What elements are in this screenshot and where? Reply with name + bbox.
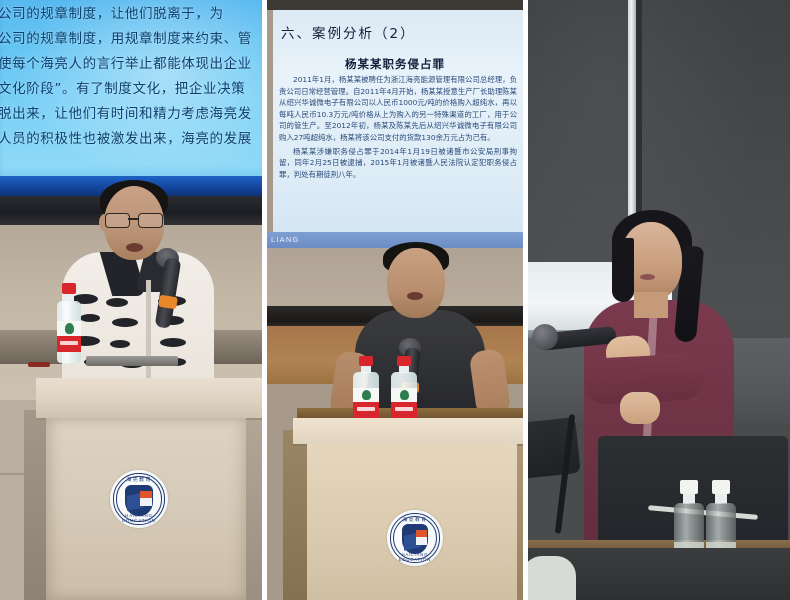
emblem-top-text: 海亮教育 bbox=[387, 516, 443, 523]
podium-side-right bbox=[244, 410, 262, 600]
slide-heading: 六、案例分析（2） bbox=[281, 22, 416, 42]
speaker-mouth bbox=[640, 274, 655, 280]
microphone-head-icon bbox=[532, 324, 558, 350]
panel-left-photo: 公司的规章制度，让他们脱离于，为 公司的规章制度，用规章制度来约束、管 使每个海… bbox=[0, 0, 262, 600]
glasses-bridge bbox=[128, 218, 139, 220]
podium-side-left bbox=[24, 410, 48, 600]
pen-on-desk bbox=[28, 362, 50, 367]
bottle-label-red bbox=[391, 402, 417, 418]
bottle-cap bbox=[62, 283, 76, 294]
projection-screen-left: 公司的规章制度，让他们脱离于，为 公司的规章制度，用规章制度来约束、管 使每个海… bbox=[0, 0, 262, 192]
emblem-top-text: 海亮教育 bbox=[110, 476, 168, 483]
laptop-on-desk bbox=[86, 356, 178, 366]
speaker-head bbox=[387, 248, 445, 318]
emblem-bottom-text: HAILIANG EDUCATION bbox=[110, 513, 168, 523]
slide-body-text: 2011年1月，杨某某被聘任为浙江海亮能源管理有限公司总经理，负责公司日常经营管… bbox=[279, 74, 517, 180]
shirt-placket bbox=[146, 280, 151, 384]
podium-top bbox=[36, 378, 262, 420]
photo-collage: 公司的规章制度，让他们脱离于，为 公司的规章制度，用规章制度来约束、管 使每个海… bbox=[0, 0, 790, 600]
bottle-label-red bbox=[353, 402, 379, 418]
slide-line: 文化阶段”。有了制度文化，把企业决策 bbox=[0, 77, 262, 102]
speaker-mouth bbox=[126, 243, 143, 252]
water-bottle bbox=[57, 283, 81, 363]
speaker-hand-lower bbox=[620, 392, 660, 424]
podium-side-left bbox=[283, 430, 309, 600]
glasses-icon bbox=[104, 213, 164, 227]
microphone-band bbox=[158, 295, 178, 310]
slide-paragraph: 2011年1月，杨某某被聘任为浙江海亮能源管理有限公司总经理，负责公司日常经营管… bbox=[279, 74, 517, 144]
panel-right-photo bbox=[528, 0, 790, 600]
bottle-label-logo bbox=[362, 390, 371, 400]
shirt-pattern bbox=[62, 288, 214, 384]
slide-text-block-left: 公司的规章制度，让他们脱离于，为 公司的规章制度，用规章制度来约束、管 使每个海… bbox=[0, 2, 262, 152]
glasses-lens-right bbox=[138, 213, 163, 228]
speaker-neck bbox=[634, 292, 668, 318]
slide-line: 脱出来，让他们有时间和精力考虑海亮发 bbox=[0, 102, 262, 127]
slide-paragraph: 杨某某涉嫌职务侵占罪于2014年1月19日被诸暨市公安局刑事拘留，同年2月25日… bbox=[279, 146, 517, 181]
speaker-hair-side bbox=[612, 238, 634, 302]
bottle-label-logo bbox=[65, 323, 74, 334]
emblem-flag-red bbox=[416, 530, 427, 537]
slide-line: 使每个海亮人的言行举止都能体现出企业 bbox=[0, 52, 262, 77]
emblem-flag-white bbox=[140, 498, 152, 506]
hailiang-education-emblem: 海亮教育 HAILIANG EDUCATION bbox=[110, 470, 168, 528]
podium-top bbox=[293, 418, 523, 446]
slide-subheading: 杨某某职务侵占罪 bbox=[267, 56, 523, 72]
bottle-cap bbox=[712, 480, 730, 494]
speaker-mouth bbox=[407, 292, 423, 300]
bottle-label-red bbox=[57, 336, 81, 352]
monitor-foreground bbox=[528, 556, 576, 600]
bottle-label-logo bbox=[400, 390, 409, 400]
slide-line: 公司的规章制度，让他们脱离于，为 bbox=[0, 2, 262, 27]
panel-middle-photo: 六、案例分析（2） 杨某某职务侵占罪 2011年1月，杨某某被聘任为浙江海亮能源… bbox=[267, 0, 523, 600]
slide-line: 公司的规章制度，用规章制度来约束、管 bbox=[0, 27, 262, 52]
bottle-cap bbox=[680, 480, 698, 494]
bottle-cap bbox=[359, 356, 373, 366]
hailiang-education-emblem: 海亮教育 HAILIANG EDUCATION bbox=[387, 510, 443, 566]
slide-watermark-text: LIANG bbox=[271, 235, 300, 244]
emblem-flag-red bbox=[140, 491, 152, 499]
emblem-bottom-text: HAILIANG EDUCATION bbox=[387, 552, 443, 562]
bottle-cap bbox=[397, 356, 411, 366]
slide-line: 人员的积极性也被激发出来，海亮的发展 bbox=[0, 127, 262, 152]
glasses-lens-left bbox=[105, 213, 130, 228]
ceiling-dark-band bbox=[267, 0, 523, 10]
emblem-flag-white bbox=[416, 537, 427, 544]
